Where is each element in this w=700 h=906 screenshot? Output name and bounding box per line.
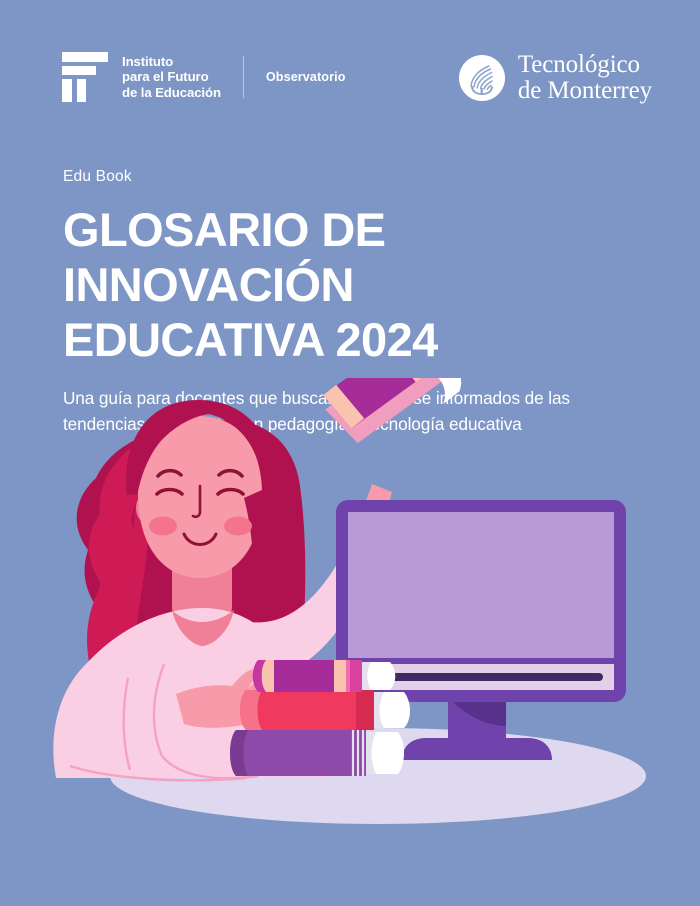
university-name-line2: de Monterrey bbox=[518, 78, 652, 104]
monitor-slot bbox=[375, 673, 603, 681]
monitor-screen bbox=[348, 512, 614, 658]
page-title-line1: GLOSARIO DE INNOVACIÓN bbox=[63, 203, 385, 311]
book-top bbox=[253, 660, 396, 692]
university-name-line1: Tecnológico bbox=[518, 52, 652, 78]
university-name: Tecnológico de Monterrey bbox=[518, 52, 652, 104]
university-logo: Tecnológico de Monterrey bbox=[459, 52, 652, 104]
book-top-edge bbox=[350, 660, 362, 692]
institute-name-line3: de la Educación bbox=[122, 85, 221, 101]
cover-illustration bbox=[0, 378, 700, 858]
book-bottom-cover bbox=[230, 730, 350, 776]
book-middle-edge bbox=[356, 690, 374, 730]
logo-divider bbox=[243, 56, 244, 98]
institute-name: Instituto para el Futuro de la Educación bbox=[122, 54, 221, 101]
cover-header: Instituto para el Futuro de la Educación… bbox=[0, 0, 700, 150]
book-top-spine-block bbox=[272, 660, 336, 692]
observatory-label: Observatorio bbox=[266, 70, 346, 84]
floating-book bbox=[311, 378, 469, 450]
book-cover: Instituto para el Futuro de la Educación… bbox=[0, 0, 700, 906]
series-label: Edu Book bbox=[63, 168, 663, 186]
institute-name-line2: para el Futuro bbox=[122, 69, 221, 85]
page-title: GLOSARIO DE INNOVACIÓN EDUCATIVA 2024 bbox=[63, 202, 663, 367]
book-top-band-right bbox=[334, 660, 346, 692]
page-title-line2: EDUCATIVA 2024 bbox=[63, 313, 438, 366]
book-bottom bbox=[230, 730, 404, 776]
tec-flame-emblem-icon bbox=[459, 55, 505, 101]
cheek-right bbox=[224, 517, 252, 536]
ifes-monogram-icon bbox=[62, 52, 108, 102]
book-top-band-left bbox=[262, 660, 274, 692]
institute-logo: Instituto para el Futuro de la Educación… bbox=[62, 52, 346, 102]
book-middle bbox=[240, 690, 410, 730]
institute-name-line1: Instituto bbox=[122, 54, 221, 70]
illustration-canvas bbox=[0, 378, 700, 858]
stacked-books bbox=[230, 660, 410, 776]
cheek-left bbox=[149, 517, 177, 536]
